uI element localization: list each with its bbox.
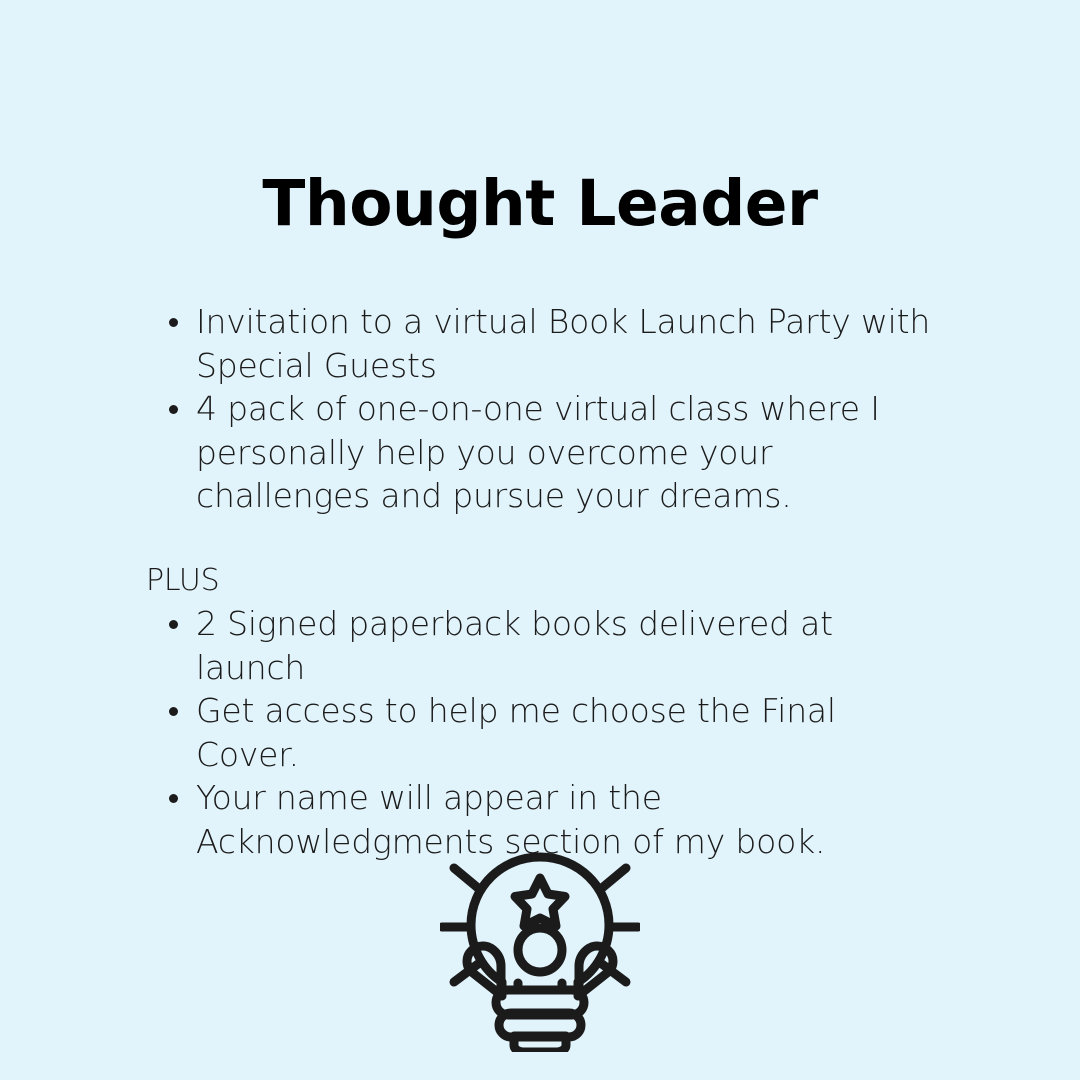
lightbulb-person-star-icon <box>440 840 640 1052</box>
list-item-text: 4 pack of one-on-one virtual class where… <box>196 389 880 515</box>
base-tip <box>514 1036 566 1052</box>
ray-upper-left <box>454 868 478 888</box>
list-item: Invitation to a virtual Book Launch Part… <box>146 300 946 387</box>
list-item-text: Invitation to a virtual Book Launch Part… <box>196 302 930 385</box>
bullet-dot-icon <box>169 707 178 716</box>
person-head <box>518 928 562 972</box>
thought-leader-tier-card: Thought Leader Invitation to a virtual B… <box>0 0 1080 1080</box>
star-shape <box>515 878 565 926</box>
primary-benefits-list: Invitation to a virtual Book Launch Part… <box>146 300 946 518</box>
bullet-dot-icon <box>169 620 178 629</box>
ray-upper-right <box>602 868 626 888</box>
list-item-text: 2 Signed paperback books delivered at la… <box>196 604 833 687</box>
plus-label: PLUS <box>146 559 946 603</box>
bullet-dot-icon <box>169 318 178 327</box>
secondary-benefits-list: 2 Signed paperback books delivered at la… <box>146 602 946 863</box>
list-item-text: Get access to help me choose the Final C… <box>196 691 836 774</box>
bullet-dot-icon <box>169 794 178 803</box>
list-item: 4 pack of one-on-one virtual class where… <box>146 387 946 518</box>
list-item: Get access to help me choose the Final C… <box>146 689 946 776</box>
bullet-dot-icon <box>169 405 178 414</box>
list-item: 2 Signed paperback books delivered at la… <box>146 602 946 689</box>
benefits-content: Invitation to a virtual Book Launch Part… <box>146 300 946 863</box>
page-title: Thought Leader <box>0 171 1080 237</box>
